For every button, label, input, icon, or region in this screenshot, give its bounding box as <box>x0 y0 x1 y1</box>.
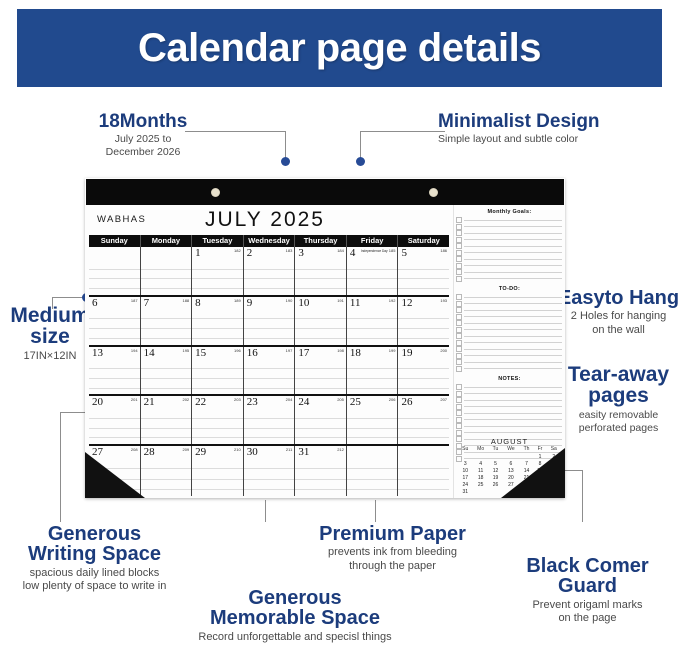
side-line-rule <box>464 239 562 240</box>
corner-guard-right <box>501 448 565 498</box>
side-line-rule <box>464 413 562 414</box>
side-line-rule <box>464 265 562 266</box>
calendar-week-row: 20201212022220323204242052520626207 <box>89 396 449 446</box>
side-section-heading: TO-DO: <box>454 285 565 293</box>
day-ruled-lines <box>192 260 243 295</box>
day-number: 11 <box>350 297 361 310</box>
day-ruled-lines <box>192 310 243 345</box>
side-line-checkbox[interactable] <box>456 250 462 256</box>
corner-guard-left <box>85 452 145 498</box>
mini-day-18[interactable]: 18 <box>472 475 488 482</box>
day-ruled-lines <box>141 409 192 444</box>
side-line-checkbox[interactable] <box>456 294 462 300</box>
calendar-day-cell-empty[interactable] <box>398 446 449 496</box>
day-number: 5 <box>401 247 407 260</box>
connector-dot-minimal <box>356 157 365 166</box>
calendar-day-cell-17[interactable]: 17198 <box>295 347 347 395</box>
calendar-week-row: 6187718881899190101911119212193 <box>89 297 449 347</box>
connector-line-paper-vertical <box>265 500 266 522</box>
mini-day-empty[interactable] <box>472 454 488 461</box>
title-banner: Calendar page details <box>17 9 662 87</box>
day-of-year-number: 211 <box>286 446 292 453</box>
side-line-checkbox[interactable] <box>456 237 462 243</box>
callout-paper-sub: prevents ink from bleeding through the p… <box>290 546 495 573</box>
side-line-rule <box>464 419 562 420</box>
day-ruled-lines <box>295 459 346 496</box>
calendar-day-cell-29[interactable]: 29210 <box>192 446 244 496</box>
day-ruled-lines <box>398 310 449 345</box>
calendar-week-row: 13194141951519616197171981819919200 <box>89 347 449 397</box>
callout-minimal-sub: Simple layout and subtle color <box>438 133 678 146</box>
day-number: 21 <box>144 396 155 409</box>
side-line-rule <box>464 220 562 221</box>
day-ruled-lines <box>244 409 295 444</box>
mini-weekday-su: Su <box>458 446 472 454</box>
mini-day-24[interactable]: 24 <box>458 482 472 489</box>
calendar-day-cell-26[interactable]: 26207 <box>398 396 449 444</box>
day-number: 9 <box>247 297 253 310</box>
calendar-day-cell-18[interactable]: 18199 <box>347 347 399 395</box>
day-of-year-number: 182 <box>234 247 241 254</box>
side-line-rule <box>464 393 562 394</box>
day-number: 16 <box>247 347 258 360</box>
side-line-checkbox[interactable] <box>456 333 462 339</box>
connector-line-minimal-vertical <box>360 131 361 160</box>
day-number: 29 <box>195 446 206 459</box>
mini-day-3[interactable]: 3 <box>458 461 472 468</box>
day-number: 6 <box>92 297 98 310</box>
day-ruled-lines <box>89 360 140 395</box>
side-line-rule <box>464 252 562 253</box>
calendar-day-cell-13[interactable]: 13194 <box>89 347 141 395</box>
side-line-rule <box>464 387 562 388</box>
calendar-day-cell-20[interactable]: 20201 <box>89 396 141 444</box>
side-section-lines <box>454 294 565 372</box>
day-ruled-lines <box>244 459 295 496</box>
day-of-year-number: 191 <box>337 297 344 304</box>
calendar-day-cell-6[interactable]: 6187 <box>89 297 141 345</box>
callout-corner-sub: Prevent origaml marks on the page <box>500 599 675 626</box>
side-line-row[interactable] <box>454 276 565 283</box>
side-line-rule <box>464 259 562 260</box>
day-number: 20 <box>92 396 103 409</box>
side-line-rule <box>464 272 562 273</box>
day-of-year-number: 207 <box>440 396 447 403</box>
side-line-rule <box>464 316 562 317</box>
day-number: 7 <box>144 297 150 310</box>
weekday-header-tuesday: Tuesday <box>192 235 244 247</box>
mini-day-11[interactable]: 11 <box>472 468 488 475</box>
calendar-day-cell-21[interactable]: 21202 <box>141 396 193 444</box>
side-line-checkbox[interactable] <box>456 307 462 313</box>
day-of-year-number: 199 <box>389 347 396 354</box>
weekday-header-monday: Monday <box>141 235 193 247</box>
mini-day-empty[interactable] <box>472 489 488 496</box>
callout-writing: Generous Writing Space spacious daily li… <box>0 524 192 594</box>
side-section: Monthly Goals: <box>454 208 565 282</box>
day-number: 8 <box>195 297 201 310</box>
day-number: 30 <box>247 446 258 459</box>
side-line-checkbox[interactable] <box>456 314 462 320</box>
day-number: 23 <box>247 396 258 409</box>
side-line-checkbox[interactable] <box>456 269 462 275</box>
side-line-checkbox[interactable] <box>456 301 462 307</box>
day-number: 3 <box>298 247 304 260</box>
side-line-checkbox[interactable] <box>456 243 462 249</box>
callout-months: 18Months July 2025 to December 2026 <box>78 112 208 159</box>
connector-line-corner-vertical <box>582 470 583 522</box>
day-of-year-number: 195 <box>182 347 189 354</box>
day-of-year-number: 185 <box>389 247 396 254</box>
side-line-rule <box>464 368 562 369</box>
connector-line-minimal <box>360 131 445 132</box>
callout-hang-title: Easyto Hang <box>556 288 679 308</box>
day-number: 10 <box>298 297 309 310</box>
callout-hang: Easyto Hang 2 Holes for hanging on the w… <box>556 288 679 337</box>
day-number: 12 <box>401 297 412 310</box>
connector-line-medium <box>52 297 85 298</box>
side-line-checkbox[interactable] <box>456 397 462 403</box>
day-ruled-lines <box>347 459 398 496</box>
side-section: TO-DO: <box>454 285 565 372</box>
calendar-month-title: JULY 2025 <box>85 208 453 232</box>
side-line-rule <box>464 355 562 356</box>
side-line-checkbox[interactable] <box>456 217 462 223</box>
calendar-page: WABHAS JULY 2025 SundayMondayTuesdayWedn… <box>85 178 565 498</box>
day-of-year-number: 198 <box>337 347 344 354</box>
calendar-day-cell-14[interactable]: 14195 <box>141 347 193 395</box>
infographic-stage: Calendar page details 18Months July 2025… <box>0 0 679 656</box>
day-ruled-lines <box>141 459 192 496</box>
callout-months-sub: July 2025 to December 2026 <box>78 133 208 159</box>
calendar-day-cell-19[interactable]: 19200 <box>398 347 449 395</box>
side-line-checkbox[interactable] <box>456 224 462 230</box>
side-line-rule <box>464 303 562 304</box>
day-of-year-number: 187 <box>131 297 138 304</box>
callout-tear-sub: easity removable perforated pages <box>556 409 679 435</box>
day-ruled-lines <box>347 360 398 395</box>
side-line-rule <box>464 323 562 324</box>
connector-line-writing-vertical <box>60 412 61 522</box>
connector-dot-months <box>281 157 290 166</box>
day-ruled-lines <box>347 310 398 345</box>
calendar-day-cell-2[interactable]: 2183 <box>244 247 296 295</box>
day-number: 15 <box>195 347 206 360</box>
day-of-year-number: 201 <box>131 396 138 403</box>
side-section-heading: Monthly Goals: <box>454 208 565 216</box>
day-of-year-number: 205 <box>337 396 344 403</box>
side-line-rule <box>464 342 562 343</box>
day-of-year-number: 186 <box>440 247 447 254</box>
calendar-day-cell-10[interactable]: 10191 <box>295 297 347 345</box>
day-ruled-lines <box>89 409 140 444</box>
calendar-day-cell-12[interactable]: 12193 <box>398 297 449 345</box>
side-line-rule <box>464 297 562 298</box>
callout-corner-title: Black Comer Guard <box>500 556 675 597</box>
callout-tear-title: Tear-away pages <box>556 364 679 407</box>
day-number: 19 <box>401 347 412 360</box>
day-ruled-lines <box>89 260 140 295</box>
side-sections: Monthly Goals:TO-DO:NOTES: <box>454 208 565 462</box>
calendar-day-cell-empty[interactable] <box>141 247 193 295</box>
side-line-checkbox[interactable] <box>456 256 462 262</box>
calendar-day-cell-5[interactable]: 5186 <box>398 247 449 295</box>
mini-day-17[interactable]: 17 <box>458 475 472 482</box>
side-line-rule <box>464 400 562 401</box>
day-ruled-lines <box>192 360 243 395</box>
calendar-day-cell-16[interactable]: 16197 <box>244 347 296 395</box>
calendar-week-row: 1182218331844185Independence Day5186 <box>89 247 449 297</box>
day-of-year-number: 188 <box>182 297 189 304</box>
side-line-checkbox[interactable] <box>456 423 462 429</box>
day-ruled-lines <box>347 409 398 444</box>
side-line-checkbox[interactable] <box>456 417 462 423</box>
callout-tear: Tear-away pages easity removable perfora… <box>556 364 679 434</box>
calendar-day-cell-3[interactable]: 3184 <box>295 247 347 295</box>
side-line-row[interactable] <box>454 366 565 373</box>
calendar-day-cell-11[interactable]: 11192 <box>347 297 399 345</box>
calendar-body: WABHAS JULY 2025 SundayMondayTuesdayWedn… <box>85 205 565 498</box>
day-ruled-lines <box>89 310 140 345</box>
calendar-day-cell-30[interactable]: 30211 <box>244 446 296 496</box>
day-of-year-number: 212 <box>337 446 344 453</box>
day-number: 28 <box>144 446 155 459</box>
day-of-year-number: 183 <box>286 247 293 254</box>
day-ruled-lines <box>141 260 192 295</box>
calendar-day-cell-22[interactable]: 22203 <box>192 396 244 444</box>
day-number: 2 <box>247 247 253 260</box>
callout-hang-sub: 2 Holes for hanging on the wall <box>556 310 679 337</box>
day-number: 18 <box>350 347 361 360</box>
side-line-rule <box>464 226 562 227</box>
calendar-day-cell-23[interactable]: 23204 <box>244 396 296 444</box>
callout-paper-title: Premium Paper <box>290 524 495 544</box>
weekday-header-saturday: Saturday <box>398 235 449 247</box>
calendar-weekday-header: SundayMondayTuesdayWednesdayThursdayFrid… <box>89 235 449 247</box>
side-section-lines <box>454 217 565 282</box>
weekday-header-sunday: Sunday <box>89 235 141 247</box>
holiday-label: Independence Day <box>361 249 388 254</box>
callout-paper: Premium Paper prevents ink from bleeding… <box>290 524 495 573</box>
hanging-hole-left-icon <box>211 188 220 197</box>
side-line-checkbox[interactable] <box>456 430 462 436</box>
side-line-checkbox[interactable] <box>456 366 462 372</box>
weekday-header-friday: Friday <box>347 235 399 247</box>
day-ruled-lines <box>295 360 346 395</box>
day-ruled-lines <box>141 360 192 395</box>
side-line-checkbox[interactable] <box>456 327 462 333</box>
mini-day-4[interactable]: 4 <box>472 461 488 468</box>
side-line-checkbox[interactable] <box>456 263 462 269</box>
day-of-year-number: 193 <box>440 297 447 304</box>
side-line-checkbox[interactable] <box>456 340 462 346</box>
side-line-rule <box>464 349 562 350</box>
callout-memorable-sub: Record unforgettable and specisl things <box>150 631 440 644</box>
calendar-day-cell-15[interactable]: 15196 <box>192 347 244 395</box>
side-line-rule <box>464 233 562 234</box>
calendar-day-cell-25[interactable]: 25206 <box>347 396 399 444</box>
mini-calendar-title: AUGUST <box>458 437 561 446</box>
weekday-header-thursday: Thursday <box>295 235 347 247</box>
calendar-day-cell-7[interactable]: 7188 <box>141 297 193 345</box>
side-line-rule <box>464 336 562 337</box>
calendar-day-cell-empty[interactable] <box>89 247 141 295</box>
side-line-checkbox[interactable] <box>456 404 462 410</box>
calendar-day-cell-8[interactable]: 8189 <box>192 297 244 345</box>
side-line-checkbox[interactable] <box>456 346 462 352</box>
side-line-rule <box>464 246 562 247</box>
day-ruled-lines <box>244 310 295 345</box>
day-number: 31 <box>298 446 309 459</box>
page-title: Calendar page details <box>138 26 541 71</box>
day-number: 24 <box>298 396 309 409</box>
side-line-checkbox[interactable] <box>456 359 462 365</box>
day-of-year-number: 190 <box>286 297 293 304</box>
day-ruled-lines <box>398 360 449 395</box>
day-number: 4 <box>350 247 356 260</box>
weekday-header-wednesday: Wednesday <box>244 235 296 247</box>
side-line-checkbox[interactable] <box>456 384 462 390</box>
day-number: 13 <box>92 347 103 360</box>
calendar-day-cell-24[interactable]: 24205 <box>295 396 347 444</box>
day-of-year-number: 189 <box>234 297 241 304</box>
day-ruled-lines <box>192 409 243 444</box>
day-ruled-lines <box>398 409 449 444</box>
side-line-rule <box>464 426 562 427</box>
day-ruled-lines <box>244 360 295 395</box>
mini-day-31[interactable]: 31 <box>458 489 472 496</box>
day-of-year-number: 209 <box>182 446 189 453</box>
side-line-rule <box>464 362 562 363</box>
day-number: 22 <box>195 396 206 409</box>
calendar-day-cell-9[interactable]: 9190 <box>244 297 296 345</box>
mini-weekday-mo: Mo <box>472 446 488 454</box>
day-of-year-number: 204 <box>286 396 293 403</box>
connector-line-months-vertical <box>285 131 286 160</box>
side-line-rule <box>464 278 562 279</box>
mini-day-25[interactable]: 25 <box>472 482 488 489</box>
day-of-year-number: 202 <box>182 396 189 403</box>
side-line-checkbox[interactable] <box>456 391 462 397</box>
callout-minimal: Minimalist Design Simple layout and subt… <box>438 112 678 146</box>
day-of-year-number: 192 <box>389 297 396 304</box>
day-number: 26 <box>401 396 412 409</box>
side-line-rule <box>464 406 562 407</box>
side-line-checkbox[interactable] <box>456 410 462 416</box>
day-of-year-number: 196 <box>234 347 241 354</box>
side-section-heading: NOTES: <box>454 375 565 383</box>
side-line-rule <box>464 310 562 311</box>
day-of-year-number: 200 <box>440 347 447 354</box>
day-number: 25 <box>350 396 361 409</box>
day-ruled-lines <box>295 409 346 444</box>
connector-line-memorable-vertical <box>375 500 376 522</box>
day-number: 17 <box>298 347 309 360</box>
calendar-day-cell-1[interactable]: 1182 <box>192 247 244 295</box>
day-of-year-number: 184 <box>337 247 344 254</box>
day-ruled-lines <box>295 310 346 345</box>
side-line-rule <box>464 329 562 330</box>
mini-day-10[interactable]: 10 <box>458 468 472 475</box>
side-line-checkbox[interactable] <box>456 353 462 359</box>
day-of-year-number: 210 <box>234 446 241 453</box>
side-line-checkbox[interactable] <box>456 230 462 236</box>
callout-months-title: 18Months <box>78 112 208 131</box>
side-line-checkbox[interactable] <box>456 320 462 326</box>
callout-corner: Black Comer Guard Prevent origaml marks … <box>500 556 675 626</box>
day-ruled-lines <box>192 459 243 496</box>
side-line-rule <box>464 432 562 433</box>
calendar-day-cell-31[interactable]: 31212 <box>295 446 347 496</box>
day-ruled-lines <box>295 260 346 295</box>
day-of-year-number: 197 <box>286 347 293 354</box>
calendar-day-cell-empty[interactable] <box>347 446 399 496</box>
day-of-year-number: 203 <box>234 396 241 403</box>
callout-minimal-title: Minimalist Design <box>438 112 678 131</box>
day-ruled-lines <box>244 260 295 295</box>
day-ruled-lines <box>141 310 192 345</box>
calendar-day-cell-4[interactable]: 4185Independence Day <box>347 247 399 295</box>
day-ruled-lines <box>398 459 449 496</box>
day-ruled-lines <box>398 260 449 295</box>
callout-writing-title: Generous Writing Space <box>0 524 192 565</box>
day-of-year-number: 206 <box>389 396 396 403</box>
day-number: 14 <box>144 347 155 360</box>
day-number: 1 <box>195 247 201 260</box>
hanging-hole-right-icon <box>429 188 438 197</box>
side-line-checkbox[interactable] <box>456 276 462 282</box>
day-ruled-lines <box>347 260 398 295</box>
mini-day-empty[interactable] <box>458 454 472 461</box>
callout-memorable-title: Generous Memorable Space <box>150 588 440 629</box>
calendar-day-cell-28[interactable]: 28209 <box>141 446 193 496</box>
callout-memorable: Generous Memorable Space Record unforget… <box>150 588 440 644</box>
day-of-year-number: 194 <box>131 347 138 354</box>
calendar-top-binding-bar <box>86 179 564 205</box>
